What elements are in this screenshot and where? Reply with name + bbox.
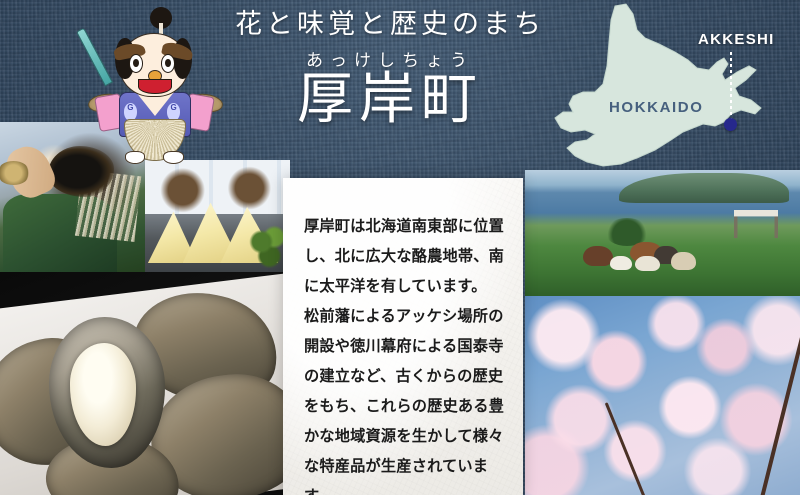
tagline: 花と味覚と歴史のまち bbox=[225, 8, 555, 40]
map-marker-label: AKKESHI bbox=[698, 32, 775, 47]
description-panel: 厚岸町は北海道南東部に位置し、北に広大な酪農地帯、南に太平洋を有しています。 松… bbox=[283, 178, 523, 495]
mascot-crest-right: G bbox=[167, 103, 180, 121]
cherry-blossoms-photo bbox=[525, 296, 800, 495]
akkeshi-mascot-character: G G bbox=[95, 4, 215, 164]
town-name-reading: あっけしちょう bbox=[225, 46, 555, 71]
page-title: 厚岸町 bbox=[225, 69, 555, 132]
horse bbox=[671, 252, 696, 270]
mascot-mouth bbox=[138, 79, 172, 93]
description-paragraph-1: 厚岸町は北海道南東部に位置し、北に広大な酪農地帯、南に太平洋を有しています。 bbox=[304, 212, 507, 302]
mascot-eye-left bbox=[129, 54, 143, 73]
location-dot-icon bbox=[724, 118, 737, 131]
map-region-label: HOKKAIDO bbox=[609, 100, 703, 115]
mascot-crest-left: G bbox=[124, 103, 137, 121]
description-text: 厚岸町は北海道南東部に位置し、北に広大な酪農地帯、南に太平洋を有しています。 松… bbox=[304, 212, 507, 495]
horse bbox=[635, 256, 660, 271]
description-paragraph-2: 松前藩によるアッケシ場所の開設や徳川幕府による国泰寺の建立など、古くからの歴史を… bbox=[304, 302, 507, 495]
hokkaido-map: HOKKAIDO AKKESHI bbox=[525, 0, 800, 175]
headline-block: 花と味覚と歴史のまち あっけしちょう 厚岸町 bbox=[225, 8, 555, 132]
cheese-wedges-photo bbox=[145, 160, 290, 272]
horses-on-coastal-pasture-photo bbox=[525, 170, 800, 296]
cherry-branch bbox=[605, 403, 647, 495]
mascot-foot-left bbox=[125, 151, 145, 164]
cheese-packaging bbox=[145, 160, 290, 214]
banner-root: G G 花と味覚と歴史のまち あっけしちょう 厚岸町 HOKKAIDO AKKE… bbox=[0, 0, 800, 495]
pasture-signpost bbox=[734, 210, 778, 238]
cherry-branch bbox=[759, 334, 800, 495]
oysters-in-tray-photo bbox=[0, 272, 290, 495]
coastal-headland bbox=[619, 173, 790, 203]
mascot-foot-right bbox=[163, 151, 183, 164]
hokkaido-outline-icon bbox=[525, 0, 800, 175]
horse bbox=[583, 246, 613, 266]
dotted-leader-line-icon bbox=[730, 52, 732, 122]
horse bbox=[610, 256, 632, 270]
